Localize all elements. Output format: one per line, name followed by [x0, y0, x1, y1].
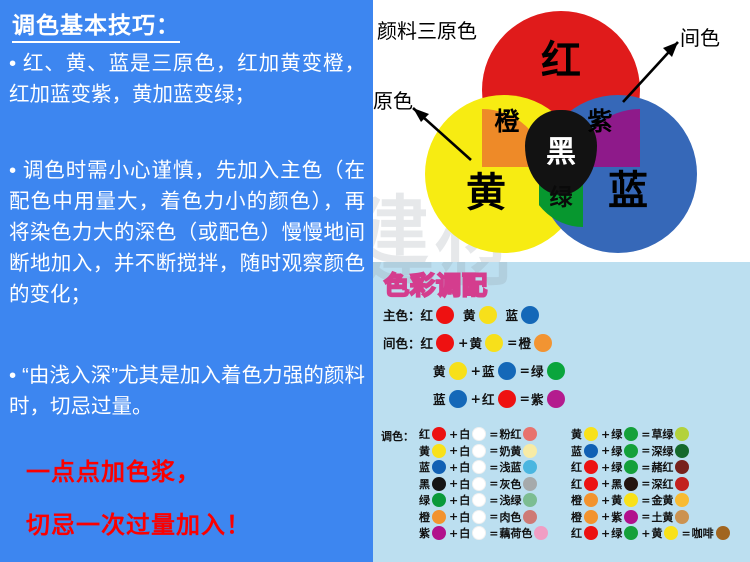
tone-b-dot-left-1: [472, 444, 486, 458]
primary-item-label-2: 蓝: [506, 305, 519, 324]
tone-b-dot-right-6: [624, 526, 638, 540]
tone-rows-right-list: 黄+绿=草绿蓝+绿=深绿红+绿=赭红红+黑=深红橙+黄=金黄橙+紫=土黄红+绿+…: [571, 426, 732, 542]
tone-rows-lead: 调色：: [381, 428, 414, 444]
tone-b-dot-left-0: [472, 427, 486, 441]
tone-row-right-1: 蓝+绿=深绿: [571, 443, 732, 460]
tone-rows-left-group: 调色： 红+白=粉红黄+白=奶黄蓝+白=浅蓝黑+白=灰色绿+白=浅绿橙+白=肉色…: [381, 426, 550, 542]
sec-eq-2: =: [519, 391, 531, 406]
tip-paragraph-2: • 调色时需小心谨慎，先加入主色（在配色中用量大，着色力小的颜色），再将染色力大…: [9, 155, 365, 310]
tone-a-label-left-1: 黄: [419, 443, 430, 459]
tone-plus-left-4: +: [448, 494, 459, 507]
tone-eq-left-5: =: [488, 510, 499, 523]
tone-row-right-2: 红+绿=赭红: [571, 459, 732, 476]
tip-paragraph-1: • 红、黄、蓝是三原色，红加黄变橙，红加蓝变紫，黄加蓝变绿；: [9, 48, 365, 110]
sec-result-dot-0: [534, 334, 552, 352]
tone-row-right-6: 红+绿+黄=咖啡: [571, 525, 732, 542]
tone-b-dot-left-5: [472, 510, 486, 524]
tone-a-label-right-3: 红: [571, 476, 582, 492]
sec-a-label-0: 红: [421, 333, 434, 352]
tone-plus-left-6: +: [448, 527, 459, 540]
tone-b-label-left-1: 白: [459, 443, 470, 459]
tone-a-label-right-2: 红: [571, 459, 582, 475]
tone-eq-right-1: =: [640, 444, 651, 457]
tone-result-label-left-6: 藕荷色: [499, 525, 532, 541]
mix-panel-title: 色彩调配: [384, 266, 488, 302]
sec-plus-1: +: [470, 363, 482, 378]
tone-b-label-left-2: 白: [459, 459, 470, 475]
tone-result-dot-left-3: [523, 477, 537, 491]
tone-eq-left-3: =: [488, 477, 499, 490]
page-title: 调色基本技巧：: [12, 6, 180, 43]
tone-b-label-right-5: 紫: [611, 509, 622, 525]
sec-result-label-1: 绿: [531, 361, 544, 380]
tone-b-dot-right-0: [624, 427, 638, 441]
tone-plus-right-3: +: [600, 477, 611, 490]
tone-a-dot-left-0: [432, 427, 446, 441]
tone-result-dot-right-1: [675, 444, 689, 458]
primary-item-dot-0: [436, 306, 454, 324]
tone-eq-right-5: =: [640, 510, 651, 523]
tone-a-dot-right-4: [584, 493, 598, 507]
tone-c-label-right-6: 黄: [651, 525, 662, 541]
tone-result-label-left-3: 灰色: [499, 476, 521, 492]
tone-a-label-right-4: 橙: [571, 492, 582, 508]
tips-panel: 调色基本技巧： • 红、黄、蓝是三原色，红加黄变橙，红加蓝变紫，黄加蓝变绿； •…: [0, 0, 373, 562]
tone-plus-left-2: +: [448, 461, 459, 474]
sec-b-label-0: 黄: [470, 333, 483, 352]
tone-row-right-4: 橙+黄=金黄: [571, 492, 732, 509]
tone-eq-right-6: =: [680, 527, 691, 540]
tone-c-dot-right-6: [664, 526, 678, 540]
tone-row-right-0: 黄+绿=草绿: [571, 426, 732, 443]
tone-row-right-5: 橙+紫=土黄: [571, 509, 732, 526]
tone-plus-left-3: +: [448, 477, 459, 490]
tone-a-dot-right-3: [584, 477, 598, 491]
primary-item-dot-2: [521, 306, 539, 324]
venn-annotation-primary: 原色: [373, 85, 413, 114]
tone-plus-left-0: +: [448, 428, 459, 441]
tone-a-label-left-0: 红: [419, 426, 430, 442]
venn-label-green: 绿: [539, 178, 583, 212]
sec-b-dot-1: [498, 362, 516, 380]
warning-line-2: 切忌一次过量加入！: [26, 505, 366, 540]
secondary-row-1: 黄 + 蓝 = 绿: [433, 361, 568, 380]
tone-result-dot-right-3: [675, 477, 689, 491]
tone-b-dot-left-4: [472, 493, 486, 507]
tone-row-left-5: 橙+白=肉色: [419, 509, 550, 526]
venn-label-red: 红: [518, 28, 604, 86]
tone-result-label-right-0: 草绿: [651, 426, 673, 442]
tone-result-dot-left-0: [523, 427, 537, 441]
tone-a-label-right-5: 橙: [571, 509, 582, 525]
tone-result-label-right-3: 深红: [651, 476, 673, 492]
primary-item-label-0: 红: [421, 305, 434, 324]
poster-canvas: 调色基本技巧： • 红、黄、蓝是三原色，红加黄变橙，红加蓝变紫，黄加蓝变绿； •…: [0, 0, 750, 562]
tone-plus2-right-6: +: [640, 527, 651, 540]
sec-a-dot-2: [449, 390, 467, 408]
tone-result-label-right-5: 土黄: [651, 509, 673, 525]
tone-a-dot-left-2: [432, 460, 446, 474]
sec-eq-1: =: [519, 363, 531, 378]
tone-b-label-right-6: 绿: [611, 525, 622, 541]
tone-eq-left-2: =: [488, 461, 499, 474]
tone-eq-right-2: =: [640, 461, 651, 474]
tone-a-label-left-2: 蓝: [419, 459, 430, 475]
sec-result-label-0: 橙: [519, 333, 532, 352]
tone-result-label-left-0: 粉红: [499, 426, 521, 442]
tone-plus-right-6: +: [600, 527, 611, 540]
tone-plus-left-1: +: [448, 444, 459, 457]
sec-b-dot-2: [498, 390, 516, 408]
tone-b-label-left-6: 白: [459, 525, 470, 541]
tone-eq-left-4: =: [488, 494, 499, 507]
sec-plus-0: +: [457, 335, 469, 350]
tone-a-dot-right-0: [584, 427, 598, 441]
tone-a-label-left-6: 紫: [419, 525, 430, 541]
primary-row-lead: 主色：: [383, 305, 421, 324]
tone-result-label-right-6: 咖啡: [692, 525, 714, 541]
tone-b-dot-left-3: [472, 477, 486, 491]
secondary-row-0: 间色： 红 + 黄 = 橙: [383, 333, 555, 352]
tone-rows-right-group: 黄+绿=草绿蓝+绿=深绿红+绿=赭红红+黑=深红橙+黄=金黄橙+紫=土黄红+绿+…: [571, 426, 732, 542]
tone-result-label-left-5: 肉色: [499, 509, 521, 525]
venn-label-blue: 蓝: [585, 158, 671, 216]
tone-plus-right-2: +: [600, 461, 611, 474]
sec-a-label-2: 蓝: [433, 389, 446, 408]
tone-eq-left-1: =: [488, 444, 499, 457]
venn-annotation-secondary: 间色: [680, 22, 720, 51]
tone-a-dot-left-5: [432, 510, 446, 524]
secondary-row-lead: 间色：: [383, 333, 421, 352]
tone-b-label-left-5: 白: [459, 509, 470, 525]
tone-row-right-3: 红+黑=深红: [571, 476, 732, 493]
tone-row-left-4: 绿+白=浅绿: [419, 492, 550, 509]
tone-eq-right-3: =: [640, 477, 651, 490]
tone-b-label-left-0: 白: [459, 426, 470, 442]
tone-plus-right-4: +: [600, 494, 611, 507]
tone-b-dot-right-2: [624, 460, 638, 474]
tone-plus-left-5: +: [448, 510, 459, 523]
tone-result-dot-left-4: [523, 493, 537, 507]
tone-result-label-right-2: 赭红: [651, 459, 673, 475]
tone-row-left-1: 黄+白=奶黄: [419, 443, 550, 460]
tone-row-left-3: 黑+白=灰色: [419, 476, 550, 493]
tone-b-label-right-1: 绿: [611, 443, 622, 459]
venn-label-yellow: 黄: [443, 160, 529, 218]
sec-b-label-1: 蓝: [482, 361, 495, 380]
sec-plus-2: +: [470, 391, 482, 406]
tone-result-label-left-4: 浅绿: [499, 492, 521, 508]
tone-rows-left-list: 红+白=粉红黄+白=奶黄蓝+白=浅蓝黑+白=灰色绿+白=浅绿橙+白=肉色紫+白=…: [419, 426, 550, 542]
secondary-row-2: 蓝 + 红 = 紫: [433, 389, 568, 408]
tone-a-dot-right-1: [584, 444, 598, 458]
tone-b-label-left-3: 白: [459, 476, 470, 492]
tone-row-left-2: 蓝+白=浅蓝: [419, 459, 550, 476]
primary-colors-row: 主色： 红 黄 蓝: [383, 305, 542, 324]
tone-a-dot-right-2: [584, 460, 598, 474]
tone-b-dot-right-4: [624, 493, 638, 507]
sec-a-dot-0: [436, 334, 454, 352]
tone-b-label-left-4: 白: [459, 492, 470, 508]
tone-plus-right-5: +: [600, 510, 611, 523]
tone-row-left-6: 紫+白=藕荷色: [419, 525, 550, 542]
tone-result-dot-left-6: [534, 526, 548, 540]
venn-diagram: 建材 红 黄 蓝 橙 紫 绿 黑 颜料三原色 原色 间色: [373, 0, 750, 262]
venn-label-black: 黑: [537, 127, 585, 171]
sec-result-label-2: 紫: [531, 389, 544, 408]
sec-b-dot-0: [485, 334, 503, 352]
tone-a-dot-left-3: [432, 477, 446, 491]
color-mixing-panel: 建材 色彩调配 主色： 红 黄 蓝 间色： 红 + 黄 =: [373, 262, 750, 562]
tone-b-label-right-4: 黄: [611, 492, 622, 508]
tone-b-dot-right-1: [624, 444, 638, 458]
warning-line-1: 一点点加色浆，: [26, 452, 366, 487]
tone-a-dot-right-5: [584, 510, 598, 524]
tone-a-dot-left-6: [432, 526, 446, 540]
tone-eq-right-4: =: [640, 494, 651, 507]
sec-a-dot-1: [449, 362, 467, 380]
tone-b-label-right-3: 黑: [611, 476, 622, 492]
tone-b-dot-right-5: [624, 510, 638, 524]
tone-result-label-right-4: 金黄: [651, 492, 673, 508]
tone-result-dot-right-5: [675, 510, 689, 524]
tone-result-label-left-2: 浅蓝: [499, 459, 521, 475]
tone-result-dot-right-4: [675, 493, 689, 507]
tone-a-label-right-0: 黄: [571, 426, 582, 442]
tone-row-left-0: 红+白=粉红: [419, 426, 550, 443]
tone-eq-right-0: =: [640, 428, 651, 441]
sec-a-label-1: 黄: [433, 361, 446, 380]
sec-result-dot-1: [547, 362, 565, 380]
venn-annotation-primary-three: 颜料三原色: [377, 15, 477, 44]
tone-a-label-right-1: 蓝: [571, 443, 582, 459]
tone-result-label-right-1: 深绿: [651, 443, 673, 459]
sec-result-dot-2: [547, 390, 565, 408]
sec-b-label-2: 红: [482, 389, 495, 408]
tone-b-label-right-2: 绿: [611, 459, 622, 475]
tone-plus-right-1: +: [600, 444, 611, 457]
tone-eq-left-0: =: [488, 428, 499, 441]
tone-result-dot-left-1: [523, 444, 537, 458]
venn-label-orange: 橙: [483, 102, 531, 138]
tone-result-dot-right-6: [716, 526, 730, 540]
tone-plus-right-0: +: [600, 428, 611, 441]
tone-b-dot-right-3: [624, 477, 638, 491]
tone-result-dot-left-5: [523, 510, 537, 524]
primary-item-label-1: 黄: [463, 305, 476, 324]
primary-item-dot-1: [479, 306, 497, 324]
tone-a-label-left-5: 橙: [419, 509, 430, 525]
tone-a-label-right-6: 红: [571, 525, 582, 541]
tip-paragraph-3: • “由浅入深”尤其是加入着色力强的颜料时，切忌过量。: [9, 360, 365, 422]
tone-result-label-left-1: 奶黄: [499, 443, 521, 459]
tone-b-label-right-0: 绿: [611, 426, 622, 442]
sec-eq-0: =: [506, 335, 518, 350]
tone-a-dot-left-1: [432, 444, 446, 458]
tone-result-dot-right-2: [675, 460, 689, 474]
tone-b-dot-left-6: [472, 526, 486, 540]
tone-a-label-left-3: 黑: [419, 476, 430, 492]
tone-result-dot-left-2: [523, 460, 537, 474]
tone-a-dot-right-6: [584, 526, 598, 540]
tone-a-label-left-4: 绿: [419, 492, 430, 508]
tone-b-dot-left-2: [472, 460, 486, 474]
tone-eq-left-6: =: [488, 527, 499, 540]
tone-a-dot-left-4: [432, 493, 446, 507]
tone-result-dot-right-0: [675, 427, 689, 441]
